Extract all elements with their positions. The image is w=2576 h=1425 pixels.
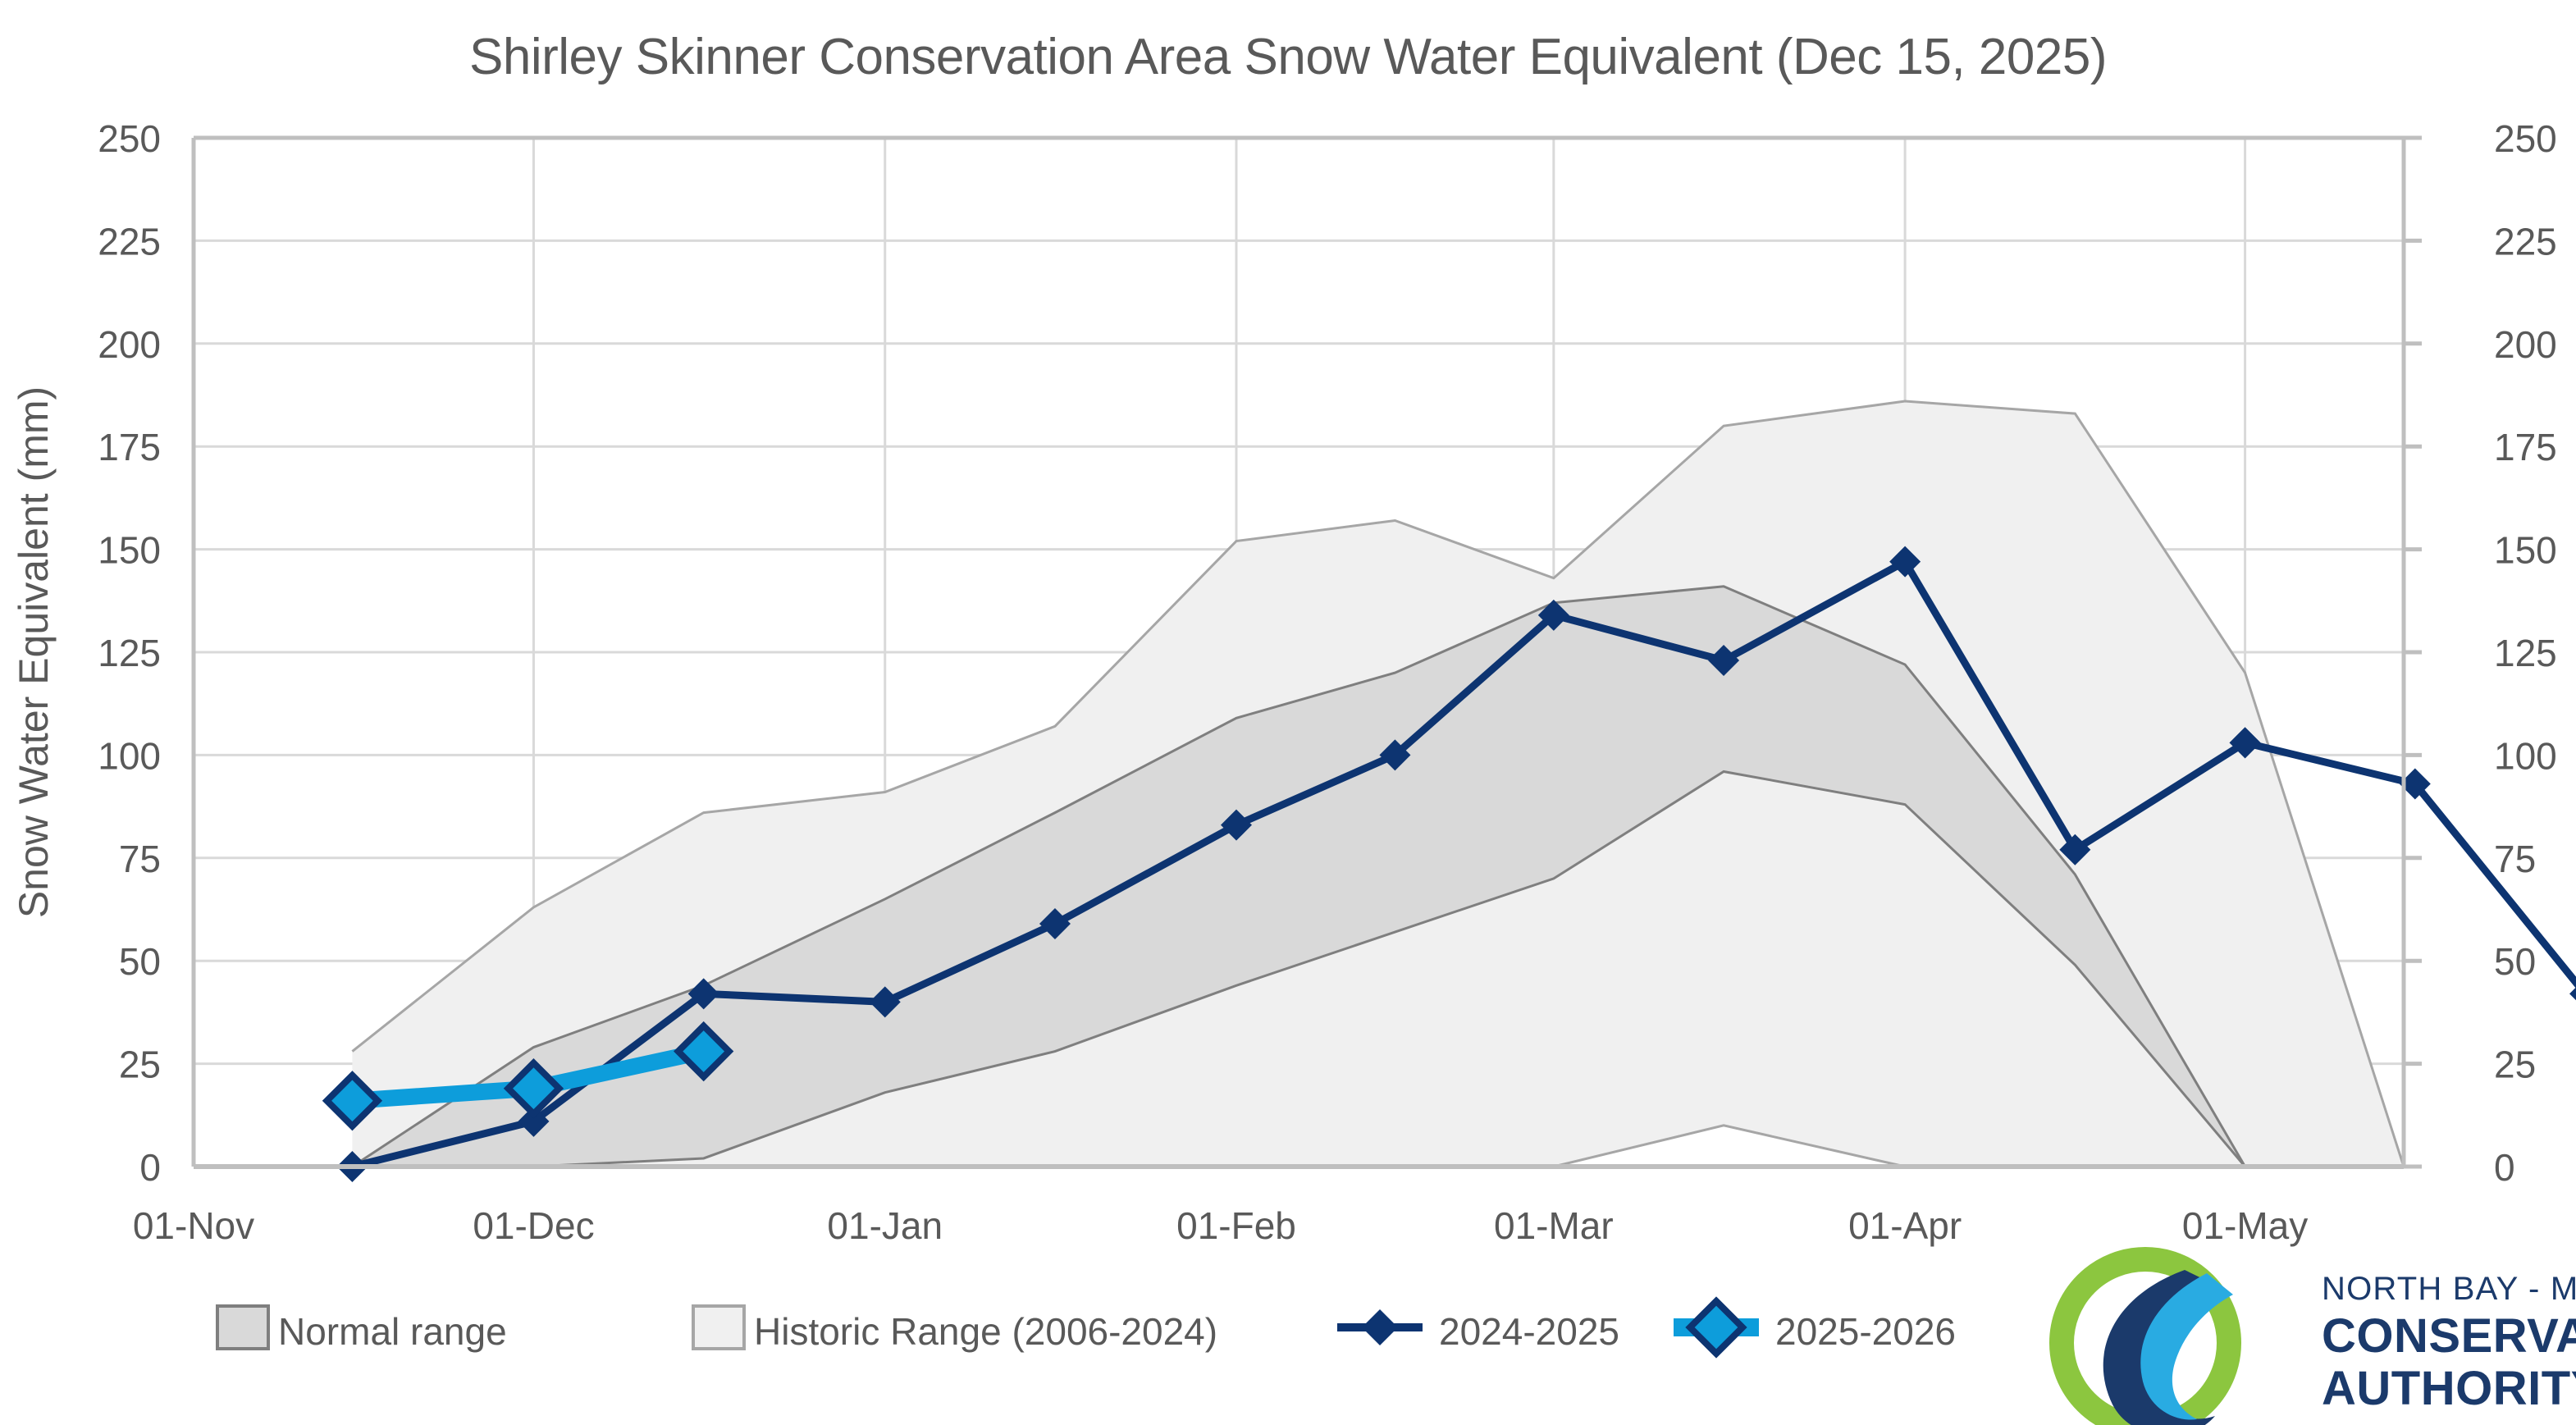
y-tick-label-left: 250 [98,117,161,160]
y-tick-label-right: 0 [2494,1146,2515,1189]
y-tick-label-left: 150 [98,529,161,572]
logo-text-authority: AUTHORITY [2322,1362,2576,1415]
y-tick-label-left: 25 [119,1044,161,1086]
logo-text-conservation: CONSERVATION [2322,1309,2576,1363]
x-tick-label: 01-Dec [473,1204,594,1247]
legend-marker [1690,1301,1742,1354]
legend-swatch [693,1306,744,1349]
chart-legend: Normal rangeHistoric Range (2006-2024)20… [217,1301,1956,1354]
legend-item[interactable]: Normal range [217,1306,507,1353]
x-tick-label: 01-Nov [133,1204,254,1247]
y-axis-label: Snow Water Equivalent (mm) [11,386,57,918]
y-tick-label-right: 75 [2494,838,2536,880]
chart-container: Shirley Skinner Conservation Area Snow W… [0,0,2576,1425]
legend-label: 2024-2025 [1439,1310,1619,1353]
y-tick-label-left: 200 [98,323,161,366]
y-tick-label-left: 225 [98,220,161,263]
y-tick-label-right: 200 [2494,323,2557,366]
y-tick-label-right: 175 [2494,426,2557,468]
legend-label: Historic Range (2006-2024) [754,1310,1217,1353]
y-tick-label-right: 25 [2494,1044,2536,1086]
y-tick-label-left: 175 [98,426,161,468]
legend-swatch [217,1306,268,1349]
y-tick-label-right: 225 [2494,220,2557,263]
y-tick-label-right: 150 [2494,529,2557,572]
x-tick-label: 01-Feb [1176,1204,1296,1247]
logo-group [2062,1259,2233,1425]
x-axis-ticks: 01-Nov01-Dec01-Jan01-Feb01-Mar01-Apr01-M… [133,1204,2308,1247]
legend-item[interactable]: 2024-2025 [1337,1309,1619,1353]
y-tick-label-left: 125 [98,632,161,674]
x-tick-label: 01-May [2182,1204,2308,1247]
y-tick-label-left: 50 [119,940,161,983]
logo-text-region: NORTH BAY - MATTAWA [2322,1271,2576,1307]
legend-label: 2025-2026 [1775,1310,1956,1353]
range-bands [352,401,2404,1167]
chart-svg: 0025255050757510010012512515015017517520… [0,0,2576,1425]
legend-marker [1362,1309,1398,1345]
y-tick-label-right: 250 [2494,117,2557,160]
legend-item[interactable]: Historic Range (2006-2024) [693,1306,1217,1353]
y-tick-label-right: 100 [2494,734,2557,777]
legend-label: Normal range [278,1310,507,1353]
y-tick-label-right: 125 [2494,632,2557,674]
x-tick-label: 01-Apr [1848,1204,1962,1247]
x-tick-label: 01-Jan [827,1204,943,1247]
y-tick-label-left: 0 [139,1146,161,1189]
y-tick-label-right: 50 [2494,940,2536,983]
nbmca-logo: NORTH BAY - MATTAWACONSERVATIONAUTHORITY [2012,1255,2576,1425]
y-axis-title: Snow Water Equivalent (mm) [11,386,57,918]
y-tick-label-left: 75 [119,838,161,880]
x-tick-label: 01-Mar [1494,1204,1614,1247]
legend-item[interactable]: 2025-2026 [1674,1301,1956,1354]
y-tick-label-left: 100 [98,734,161,777]
